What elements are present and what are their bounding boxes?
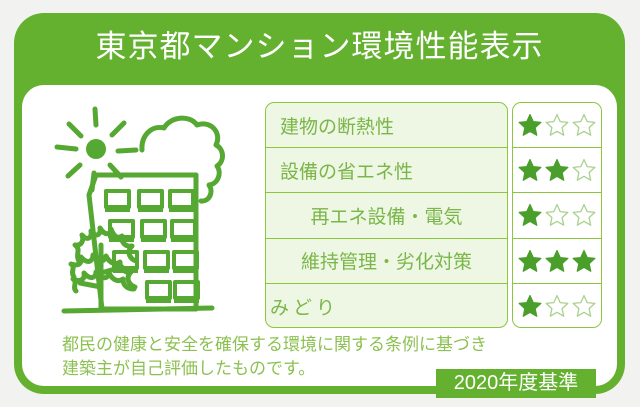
- screenshot-root: 東京都マンション環境性能表示: [0, 0, 640, 407]
- star-rating: [513, 148, 601, 193]
- ground-line: [64, 308, 212, 311]
- table-row: 建物の断熱性: [266, 103, 507, 148]
- star-rating: [513, 284, 601, 328]
- rating-label: 再エネ設備・電気: [310, 202, 462, 229]
- window-grid: [105, 191, 199, 303]
- star-empty-icon: [572, 113, 596, 137]
- eco-building-illustration: [44, 95, 264, 325]
- star-filled-icon: [518, 158, 542, 182]
- star-filled-icon: [518, 203, 542, 227]
- disclaimer-text: 都民の健康と安全を確保する環境に関する条例に基づき 建築主が自己評価したものです…: [62, 333, 482, 381]
- star-filled-icon: [572, 249, 596, 273]
- star-filled-icon: [545, 158, 569, 182]
- table-row: 維持管理・劣化対策: [266, 239, 507, 284]
- page-title: 東京都マンション環境性能表示: [14, 27, 625, 67]
- rating-label: 建物の断熱性: [280, 112, 394, 139]
- content-panel: 建物の断熱性 設備の省エネ性 再エネ設備・電気 維持管理・劣化対策 みどり: [22, 85, 617, 386]
- star-filled-icon: [518, 249, 542, 273]
- star-rating: [513, 239, 601, 284]
- rating-label: 設備の省エネ性: [280, 157, 413, 184]
- star-filled-icon: [545, 249, 569, 273]
- rating-label: 維持管理・劣化対策: [301, 247, 472, 274]
- star-rating: [513, 193, 601, 238]
- star-rating: [513, 103, 601, 148]
- table-row: 設備の省エネ性: [266, 148, 507, 193]
- cloud-icon: [142, 118, 223, 201]
- star-empty-icon: [545, 203, 569, 227]
- star-empty-icon: [572, 203, 596, 227]
- star-filled-icon: [518, 113, 542, 137]
- eco-label-card: 東京都マンション環境性能表示: [14, 13, 625, 394]
- rating-label: みどり: [270, 293, 339, 320]
- star-filled-icon: [518, 294, 542, 318]
- star-empty-icon: [572, 294, 596, 318]
- table-row: みどり: [266, 284, 507, 328]
- star-empty-icon: [545, 294, 569, 318]
- standard-year-badge: 2020年度基準: [436, 369, 596, 398]
- ratings-label-column: 建物の断熱性 設備の省エネ性 再エネ設備・電気 維持管理・劣化対策 みどり: [265, 102, 508, 328]
- disclaimer-line-2: 建築主が自己評価したものです。: [62, 357, 482, 381]
- star-empty-icon: [545, 113, 569, 137]
- table-row: 再エネ設備・電気: [266, 193, 507, 238]
- star-empty-icon: [572, 158, 596, 182]
- disclaimer-line-1: 都民の健康と安全を確保する環境に関する条例に基づき: [62, 333, 482, 357]
- ratings-table: 建物の断熱性 設備の省エネ性 再エネ設備・電気 維持管理・劣化対策 みどり: [265, 102, 602, 328]
- ratings-star-column: [512, 102, 602, 328]
